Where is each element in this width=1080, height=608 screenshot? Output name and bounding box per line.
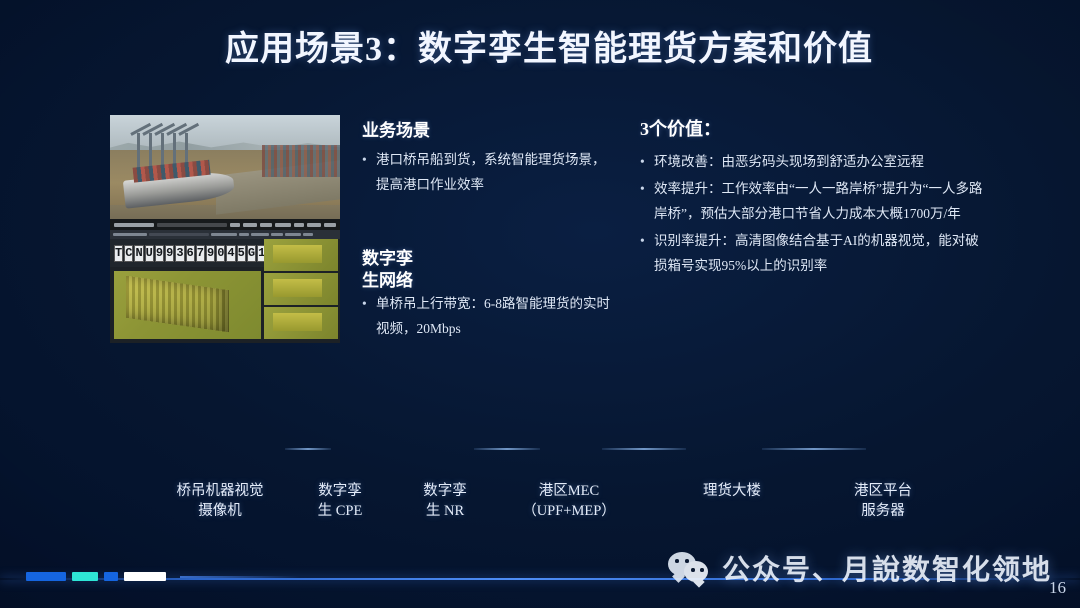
container-id-char: T [114, 245, 123, 262]
watermark: 公众号、月說数智化领地 [668, 548, 1052, 588]
digital-twin-network-heading: 数字孪 生网络 [362, 248, 422, 292]
values-list: 环境改善：由恶劣码头现场到舒适办公室远程 效率提升：工作效率由“一人一路岸桥”提… [640, 150, 990, 281]
node-label-camera: 桥吊机器视觉 摄像机 [150, 482, 290, 521]
node-label-building: 理货大楼 [672, 482, 792, 502]
wire-building-server [762, 448, 866, 450]
progress-segment[interactable] [72, 572, 98, 581]
list-item: 港口桥吊船到货，系统智能理货场景，提高港口作业效率 [362, 148, 608, 198]
node-label-nr: 数字孪 生 NR [395, 482, 495, 521]
progress-segment[interactable] [104, 572, 118, 581]
list-item: 识别率提升：高清图像结合基于AI的机器视觉，能对破损箱号实现95%以上的识别率 [640, 229, 990, 279]
progress-segment[interactable] [124, 572, 166, 581]
list-item: 单桥吊上行带宽：6-8路智能理货的实时视频，20Mbps [362, 292, 612, 342]
list-item: 效率提升：工作效率由“一人一路岸桥”提升为“一人多路岸桥”，预估大部分港口节省人… [640, 177, 990, 227]
page-title: 应用场景3：数字孪生智能理货方案和价值 [225, 28, 925, 72]
progress-segment[interactable] [26, 572, 66, 581]
video-player-bar[interactable] [110, 219, 340, 230]
container-id-char: 9 [206, 245, 215, 262]
container-id-char: 5 [237, 245, 246, 262]
wire-camera-cpe [285, 448, 331, 450]
container-id-char: 6 [186, 245, 195, 262]
node-label-cpe: 数字孪 生 CPE [290, 482, 390, 521]
container-id-char: 3 [175, 245, 184, 262]
port-aerial-video-image [110, 115, 340, 230]
watermark-text: 公众号、月說数智化领地 [722, 548, 1052, 588]
progress-indicator [26, 572, 300, 581]
container-id-char: U [145, 245, 154, 262]
container-id-char: G [247, 245, 256, 262]
wechat-logo-icon [668, 552, 712, 584]
digital-twin-network-list: 单桥吊上行带宽：6-8路智能理货的实时视频，20Mbps [362, 292, 612, 344]
node-label-mec: 港区MEC （UPF+MEP） [500, 482, 638, 521]
cv-toolbar [110, 230, 340, 239]
container-id-char: N [134, 245, 143, 262]
cv-side-view-3 [264, 307, 338, 339]
container-recognition-image: TCNU993679045G1 [110, 230, 340, 343]
business-scenario-list: 港口桥吊船到货，系统智能理货场景，提高港口作业效率 [362, 148, 608, 200]
photo-container-yard [262, 145, 340, 177]
business-scenario-heading: 业务场景 [362, 120, 430, 142]
page-number: 16 [1049, 578, 1066, 598]
architecture-diagram: 桥吊机器视觉 摄像机 数字孪 生 CPE 数字孪 生 NR 港区MEC （UPF… [0, 372, 1080, 532]
container-id-char: 9 [165, 245, 174, 262]
container-id-readout: TCNU993679045G1 [110, 239, 266, 267]
container-id-char: 7 [196, 245, 205, 262]
wire-mec-building [602, 448, 686, 450]
container-id-char: 0 [216, 245, 225, 262]
slide-canvas: 应用场景3：数字孪生智能理货方案和价值 [0, 0, 1080, 608]
cv-side-view-1 [264, 239, 338, 271]
cv-main-camera-view [114, 271, 261, 339]
cv-side-camera-views [264, 239, 338, 339]
container-id-char: 9 [155, 245, 164, 262]
cv-side-view-2 [264, 273, 338, 305]
values-heading: 3个价值： [640, 118, 721, 141]
node-label-server: 港区平台 服务器 [823, 482, 943, 521]
progress-tail [180, 576, 300, 578]
list-item: 环境改善：由恶劣码头现场到舒适办公室远程 [640, 150, 990, 175]
cv-container-box [126, 276, 229, 333]
container-id-char: C [124, 245, 133, 262]
container-id-char: 4 [226, 245, 235, 262]
wire-nr-mec [474, 448, 540, 450]
